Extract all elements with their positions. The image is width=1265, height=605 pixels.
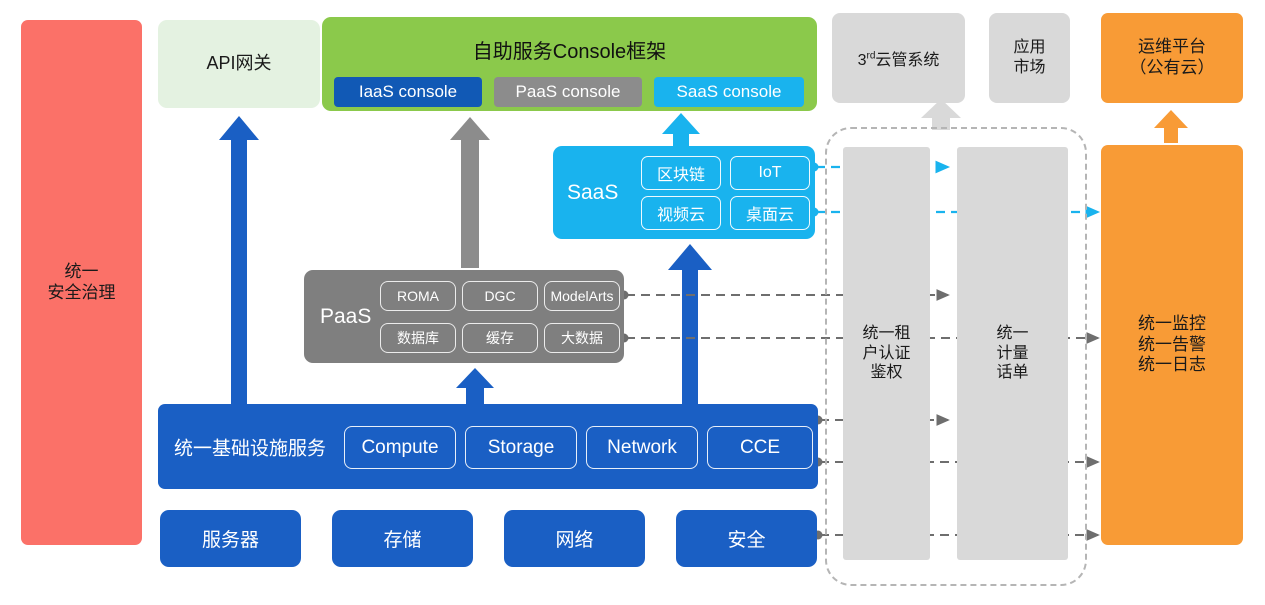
saas-item-iot[interactable]: IoT (730, 156, 810, 190)
third-party-cloud-mgmt-box[interactable]: 3rd云管系统 (832, 13, 965, 103)
monitoring-panel[interactable]: 统一监控 统一告警 统一日志 (1101, 145, 1243, 545)
saas-item-blockchain[interactable]: 区块链 (641, 156, 721, 190)
arrow-to-ops-platform (1154, 110, 1188, 143)
arrow-infra-to-saas (668, 244, 712, 406)
paas-item-modelarts[interactable]: ModelArts (544, 281, 620, 311)
app-market-label: 应用 市场 (1013, 38, 1045, 77)
arrow-infra-to-api-gateway (219, 116, 259, 406)
unified-tenant-auth-column[interactable]: 统一租 户认证 鉴权 (843, 147, 930, 560)
hardware-network-label: 网络 (555, 525, 593, 552)
hardware-item-network[interactable]: 网络 (504, 510, 645, 567)
paas-item-bigdata[interactable]: 大数据 (544, 323, 620, 353)
monitoring-panel-label: 统一监控 统一告警 统一日志 (1138, 314, 1206, 376)
ops-platform-label: 运维平台 （公有云） (1130, 37, 1215, 78)
console-frame-title: 自助服务Console框架 (322, 35, 817, 64)
ops-platform-box[interactable]: 运维平台 （公有云） (1101, 13, 1243, 103)
arrow-to-third-party (921, 99, 961, 130)
arrow-saas-to-console (662, 113, 700, 148)
security-governance-panel[interactable]: 统一 安全治理 (21, 20, 142, 545)
api-gateway-label: API网关 (206, 53, 271, 75)
unified-infrastructure-title: 统一基础设施服务 (174, 433, 326, 460)
hardware-server-label: 服务器 (202, 525, 259, 552)
saas-block-title: SaaS (567, 181, 618, 205)
paas-item-database[interactable]: 数据库 (380, 323, 456, 353)
paas-item-dgc[interactable]: DGC (462, 281, 538, 311)
infra-item-cce[interactable]: CCE (707, 426, 813, 469)
hardware-security-label: 安全 (727, 525, 765, 552)
api-gateway-box[interactable]: API网关 (158, 20, 320, 108)
hardware-item-security[interactable]: 安全 (676, 510, 817, 567)
arrow-paas-to-console (450, 117, 490, 268)
paas-item-roma[interactable]: ROMA (380, 281, 456, 311)
app-market-box[interactable]: 应用 市场 (989, 13, 1070, 103)
saas-item-desktop-cloud[interactable]: 桌面云 (730, 196, 810, 230)
unified-metering-label: 统一 计量 话单 (996, 324, 1028, 383)
paas-item-cache[interactable]: 缓存 (462, 323, 538, 353)
iaas-console-chip[interactable]: IaaS console (334, 77, 482, 107)
security-governance-label: 统一 安全治理 (48, 262, 116, 303)
unified-infrastructure-bar[interactable]: 统一基础设施服务 Compute Storage Network CCE (158, 404, 818, 489)
third-party-cloud-mgmt-label: 3rd云管系统 (858, 46, 940, 70)
saas-console-chip[interactable]: SaaS console (654, 77, 804, 107)
saas-block[interactable]: SaaS 区块链 IoT 视频云 桌面云 (553, 146, 815, 239)
architecture-diagram: 统一 安全治理 API网关 自助服务Console框架 IaaS console… (0, 0, 1265, 605)
self-service-console-frame[interactable]: 自助服务Console框架 IaaS console PaaS console … (322, 17, 817, 111)
unified-metering-column[interactable]: 统一 计量 话单 (957, 147, 1068, 560)
paas-block-title: PaaS (320, 305, 371, 329)
hardware-item-storage[interactable]: 存储 (332, 510, 473, 567)
unified-tenant-auth-label: 统一租 户认证 鉴权 (862, 324, 910, 383)
infra-item-network[interactable]: Network (586, 426, 698, 469)
paas-console-chip[interactable]: PaaS console (494, 77, 642, 107)
infra-item-storage[interactable]: Storage (465, 426, 577, 469)
saas-item-video-cloud[interactable]: 视频云 (641, 196, 721, 230)
hardware-storage-label: 存储 (383, 525, 421, 552)
infra-item-compute[interactable]: Compute (344, 426, 456, 469)
arrow-infra-to-paas (456, 368, 494, 406)
paas-block[interactable]: PaaS ROMA DGC ModelArts 数据库 缓存 大数据 (304, 270, 624, 363)
hardware-item-server[interactable]: 服务器 (160, 510, 301, 567)
